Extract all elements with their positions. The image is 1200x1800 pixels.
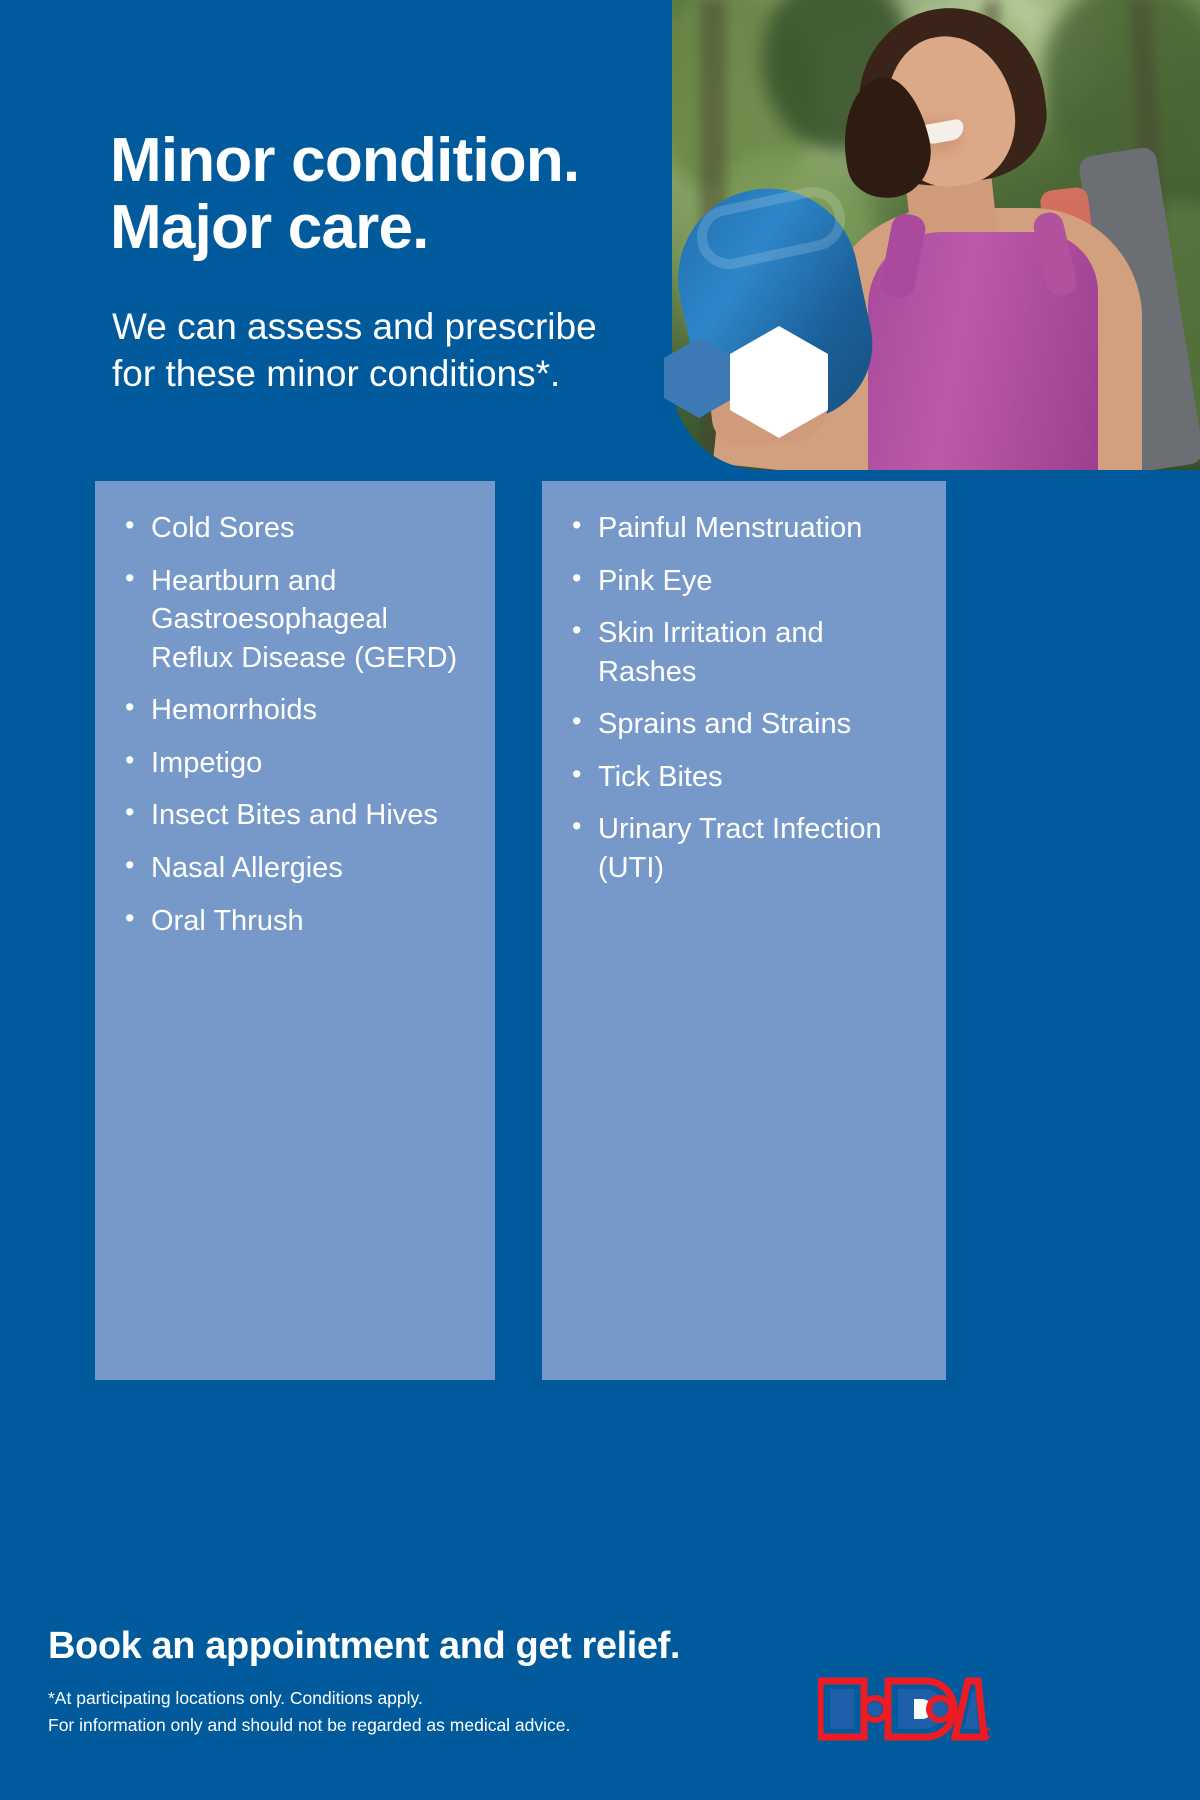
headline-line-1: Minor condition. bbox=[110, 128, 710, 195]
list-item: Nasal Allergies bbox=[125, 849, 473, 888]
svg-text:R: R bbox=[983, 1731, 988, 1738]
list-item: Painful Menstruation bbox=[572, 509, 924, 548]
disclaimer-line-2: For information only and should not be r… bbox=[48, 1712, 748, 1739]
list-item: Heartburn and Gastroesophageal Reflux Di… bbox=[125, 562, 473, 678]
list-item: Oral Thrush bbox=[125, 902, 473, 941]
list-item: Impetigo bbox=[125, 744, 473, 783]
ida-logo-icon: R bbox=[818, 1677, 990, 1745]
ida-logo: R bbox=[818, 1677, 990, 1745]
list-item: Cold Sores bbox=[125, 509, 473, 548]
list-item: Pink Eye bbox=[572, 562, 924, 601]
call-to-action-text: Book an appointment and get relief. bbox=[48, 1625, 680, 1668]
list-item: Urinary Tract Infection (UTI) bbox=[572, 810, 924, 887]
subtitle-line-2: for these minor conditions*. bbox=[112, 350, 692, 397]
disclaimer-line-1: *At participating locations only. Condit… bbox=[48, 1685, 748, 1712]
page-title: Minor condition. Major care. bbox=[110, 128, 710, 262]
list-item: Hemorrhoids bbox=[125, 691, 473, 730]
conditions-list-left: Cold Sores Heartburn and Gastroesophagea… bbox=[95, 481, 495, 940]
conditions-list-right: Painful Menstruation Pink Eye Skin Irrit… bbox=[542, 481, 946, 888]
list-item: Tick Bites bbox=[572, 758, 924, 797]
list-item: Skin Irritation and Rashes bbox=[572, 614, 924, 691]
conditions-panel-right: Painful Menstruation Pink Eye Skin Irrit… bbox=[542, 481, 946, 1380]
conditions-panel-left: Cold Sores Heartburn and Gastroesophagea… bbox=[95, 481, 495, 1380]
headline-line-2: Major care. bbox=[110, 195, 710, 262]
subtitle-line-1: We can assess and prescribe bbox=[112, 303, 692, 350]
list-item: Sprains and Strains bbox=[572, 705, 924, 744]
disclaimer: *At participating locations only. Condit… bbox=[48, 1685, 748, 1739]
subtitle: We can assess and prescribe for these mi… bbox=[112, 303, 692, 398]
list-item: Insect Bites and Hives bbox=[125, 796, 473, 835]
